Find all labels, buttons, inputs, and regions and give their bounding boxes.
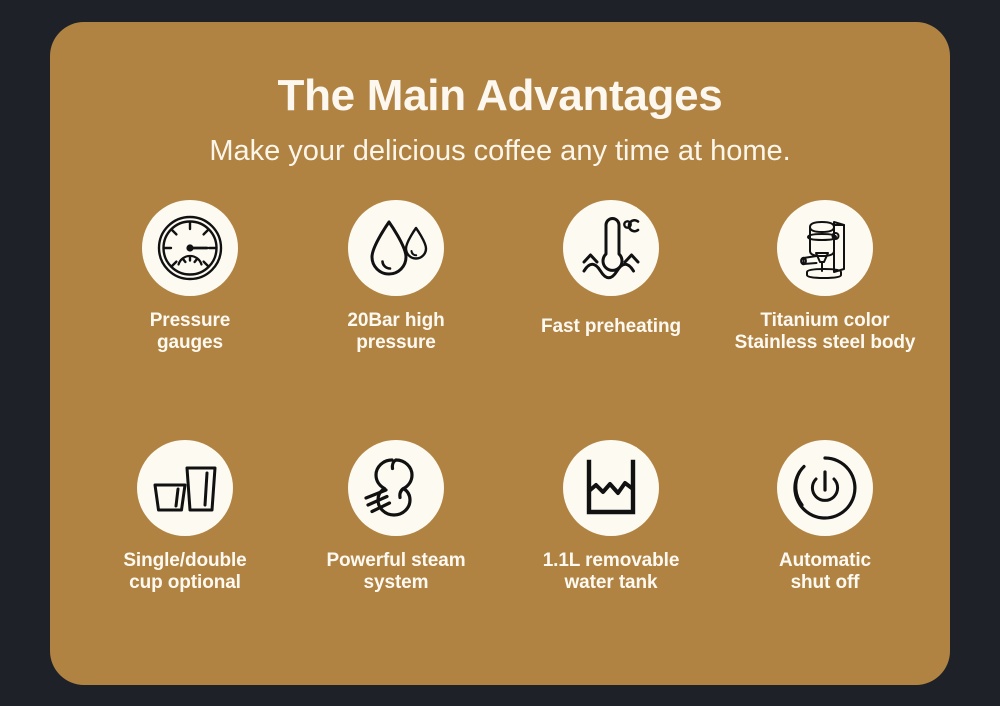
feature-steam-system: Powerful steam system [296,440,496,594]
water-tank-icon [563,440,659,536]
feature-label: Titanium color Stainless steel body [705,310,945,354]
advantages-card: The Main Advantages Make your delicious … [50,22,950,685]
two-cups-icon [137,440,233,536]
feature-label: Powerful steam system [281,550,511,594]
feature-label: Single/double cup optional [70,550,300,594]
features-grid: Pressure gauges 20Bar high pressure [50,200,950,662]
feature-label: 20Bar high pressure [296,310,496,354]
features-row-2: Single/double cup optional [50,440,950,662]
feature-label: Fast preheating [511,316,711,338]
feature-high-pressure: 20Bar high pressure [296,200,496,354]
power-off-icon [777,440,873,536]
steam-cloud-icon [348,440,444,536]
espresso-machine-icon [777,200,873,296]
feature-pressure-gauges: Pressure gauges [90,200,290,354]
feature-titanium-body: Titanium color Stainless steel body [725,200,925,354]
water-droplet-icon [348,200,444,296]
feature-auto-shutoff: Automatic shut off [725,440,925,594]
feature-label: 1.1L removable water tank [496,550,726,594]
feature-water-tank: 1.1L removable water tank [511,440,711,594]
feature-label: Automatic shut off [725,550,925,594]
page-title: The Main Advantages [50,72,950,120]
features-row-1: Pressure gauges 20Bar high pressure [50,200,950,422]
page-root: The Main Advantages Make your delicious … [0,0,1000,706]
page-subtitle: Make your delicious coffee any time at h… [50,134,950,169]
feature-fast-preheating: Fast preheating [511,200,711,338]
feature-cup-optional: Single/double cup optional [85,440,285,594]
pressure-gauge-icon [142,200,238,296]
feature-label: Pressure gauges [90,310,290,354]
thermometer-heat-icon [563,200,659,296]
